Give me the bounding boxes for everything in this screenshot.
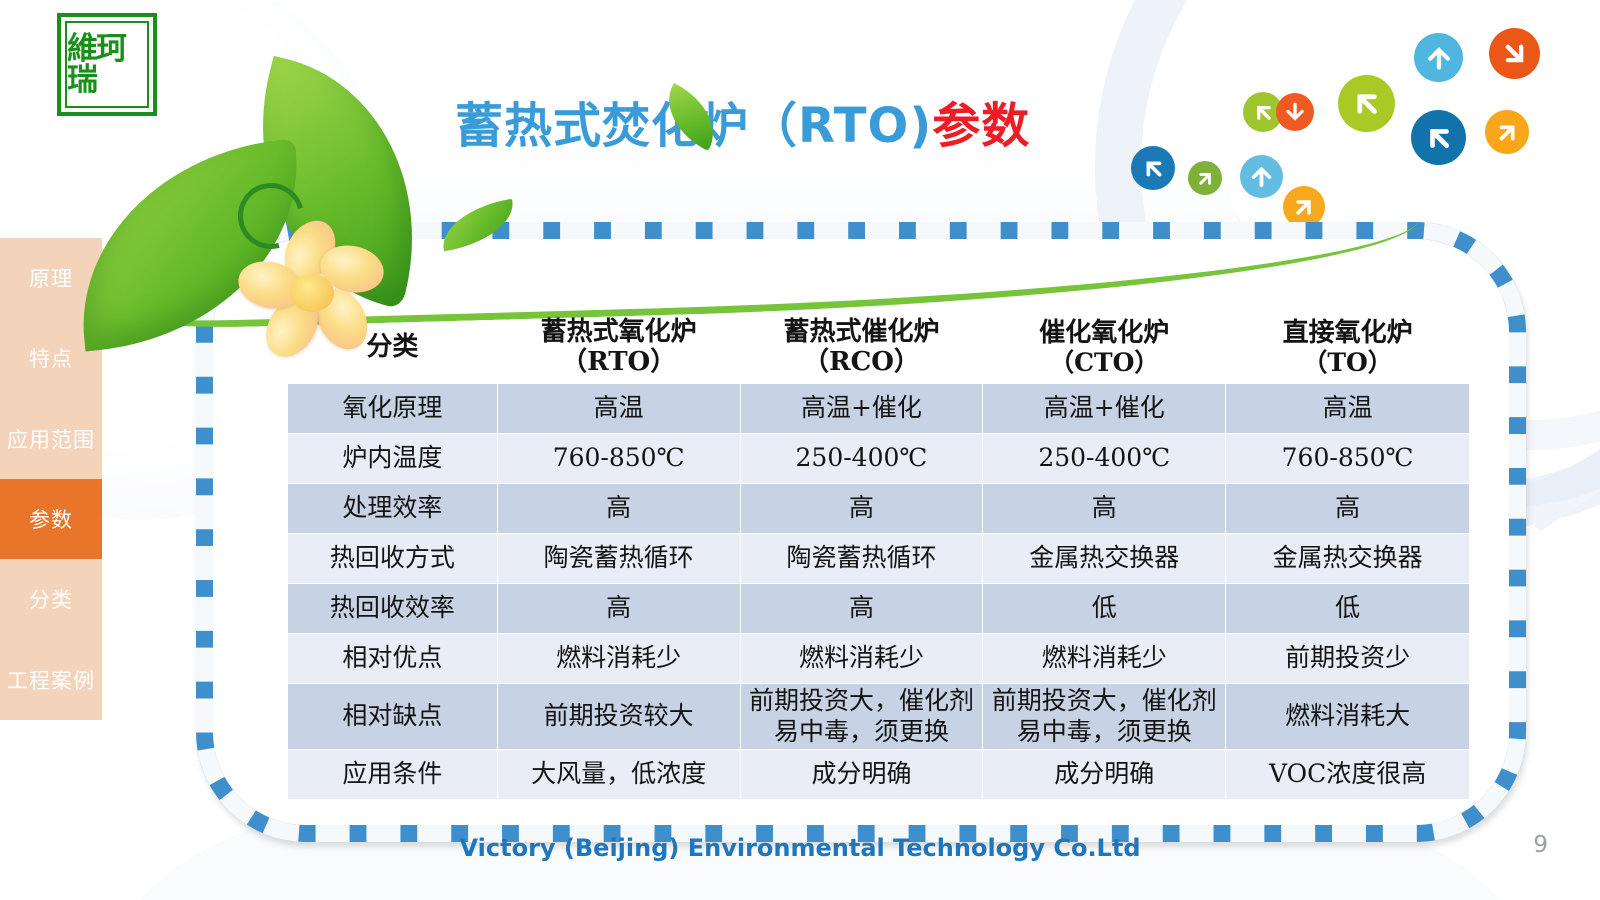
- table-row-label: 相对缺点: [288, 684, 498, 750]
- table-cell: 前期投资少: [1226, 634, 1470, 684]
- table-row: 热回收效率高高低低: [288, 584, 1470, 634]
- table-cell: 前期投资大，催化剂易中毒，须更换: [983, 684, 1226, 750]
- arrow-up-left-darkblue-icon: [1411, 110, 1466, 165]
- page-title-accent: 参数: [932, 98, 1030, 154]
- table-cell: 高温+催化: [983, 384, 1226, 434]
- table-cell: 成分明确: [983, 750, 1226, 800]
- table-row: 氧化原理高温高温+催化高温+催化高温: [288, 384, 1470, 434]
- footer-company-name: Victory (Beijing) Environmental Technolo…: [0, 834, 1600, 862]
- sidebar-item-application[interactable]: 应用范围: [0, 399, 102, 479]
- table-row-label: 处理效率: [288, 484, 498, 534]
- table-cell: 低: [1226, 584, 1470, 634]
- arrow-up-sky-icon: [1414, 33, 1463, 82]
- company-logo-text: 維珂瑞: [65, 21, 149, 108]
- table-row: 炉内温度760-850℃250-400℃250-400℃760-850℃: [288, 434, 1470, 484]
- arrow-down-red-icon: [1276, 93, 1314, 131]
- table-row: 热回收方式陶瓷蓄热循环陶瓷蓄热循环金属热交换器金属热交换器: [288, 534, 1470, 584]
- table-cell: 燃料消耗大: [1226, 684, 1470, 750]
- table-header-row: 分类 蓄热式氧化炉（RTO） 蓄热式催化炉（RCO） 催化氧化炉 （CTO） 直…: [288, 313, 1470, 384]
- page-title: 蓄热式焚化炉（RTO)参数: [455, 86, 1155, 156]
- table-row: 相对优点燃料消耗少燃料消耗少燃料消耗少前期投资少: [288, 634, 1470, 684]
- slide-root: 維珂瑞 原理 特点 应用范围 参数 分类 工程案例 蓄热式焚化炉（RTO)参数: [0, 0, 1600, 900]
- parameters-table-head: 分类 蓄热式氧化炉（RTO） 蓄热式催化炉（RCO） 催化氧化炉 （CTO） 直…: [288, 313, 1470, 384]
- table-cell: 陶瓷蓄热循环: [497, 534, 740, 584]
- table-cell: 高温+催化: [740, 384, 983, 434]
- table-cell: 高温: [1226, 384, 1470, 434]
- table-header-rto: 蓄热式氧化炉（RTO）: [497, 313, 740, 384]
- table-header-category: 分类: [288, 313, 498, 384]
- table-cell: 燃料消耗少: [740, 634, 983, 684]
- table-cell: 燃料消耗少: [497, 634, 740, 684]
- table-cell: 高: [740, 584, 983, 634]
- table-row-label: 相对优点: [288, 634, 498, 684]
- company-logo: 維珂瑞: [57, 13, 157, 116]
- arrow-up-right-amber-icon: [1485, 110, 1529, 154]
- table-row-label: 炉内温度: [288, 434, 498, 484]
- parameters-table: 分类 蓄热式氧化炉（RTO） 蓄热式催化炉（RCO） 催化氧化炉 （CTO） 直…: [287, 313, 1470, 800]
- table-cell: 金属热交换器: [983, 534, 1226, 584]
- table-cell: 燃料消耗少: [983, 634, 1226, 684]
- parameters-table-body: 氧化原理高温高温+催化高温+催化高温炉内温度760-850℃250-400℃25…: [288, 384, 1470, 800]
- table-cell: 高: [1226, 484, 1470, 534]
- table-row: 应用条件大风量，低浓度成分明确成分明确VOC浓度很高: [288, 750, 1470, 800]
- table-cell: 高: [983, 484, 1226, 534]
- table-row: 相对缺点前期投资较大前期投资大，催化剂易中毒，须更换前期投资大，催化剂易中毒，须…: [288, 684, 1470, 750]
- table-cell: 250-400℃: [740, 434, 983, 484]
- arrow-up-lightblue-icon: [1240, 155, 1283, 198]
- table-row-label: 热回收方式: [288, 534, 498, 584]
- table-cell: 高: [740, 484, 983, 534]
- arrow-up-left-lime-icon: [1338, 75, 1395, 132]
- table-row-label: 热回收效率: [288, 584, 498, 634]
- table-cell: 高: [497, 584, 740, 634]
- sidebar-item-cases[interactable]: 工程案例: [0, 639, 102, 719]
- table-cell: 760-850℃: [497, 434, 740, 484]
- table-cell: 低: [983, 584, 1226, 634]
- table-row-label: 应用条件: [288, 750, 498, 800]
- table-cell: 前期投资较大: [497, 684, 740, 750]
- table-cell: 陶瓷蓄热循环: [740, 534, 983, 584]
- table-cell: 前期投资大，催化剂易中毒，须更换: [740, 684, 983, 750]
- table-cell: 250-400℃: [983, 434, 1226, 484]
- sidebar-item-category[interactable]: 分类: [0, 559, 102, 639]
- arrow-up-right-blue-icon: [1131, 146, 1175, 190]
- table-header-cto: 催化氧化炉 （CTO）: [983, 313, 1226, 384]
- arrow-up-right-green-icon: [1188, 161, 1222, 195]
- table-cell: 高温: [497, 384, 740, 434]
- arrow-down-right-red-icon: [1489, 28, 1540, 79]
- table-cell: 高: [497, 484, 740, 534]
- table-cell: VOC浓度很高: [1226, 750, 1470, 800]
- table-header-to: 直接氧化炉 （TO）: [1226, 313, 1470, 384]
- table-row: 处理效率高高高高: [288, 484, 1470, 534]
- table-row-label: 氧化原理: [288, 384, 498, 434]
- table-cell: 金属热交换器: [1226, 534, 1470, 584]
- parameters-table-container: 分类 蓄热式氧化炉（RTO） 蓄热式催化炉（RCO） 催化氧化炉 （CTO） 直…: [287, 313, 1470, 800]
- table-header-rco: 蓄热式催化炉（RCO）: [740, 313, 983, 384]
- table-cell: 760-850℃: [1226, 434, 1470, 484]
- table-cell: 成分明确: [740, 750, 983, 800]
- table-cell: 大风量，低浓度: [497, 750, 740, 800]
- page-number: 9: [1533, 832, 1548, 858]
- sidebar-item-parameters[interactable]: 参数: [0, 479, 102, 559]
